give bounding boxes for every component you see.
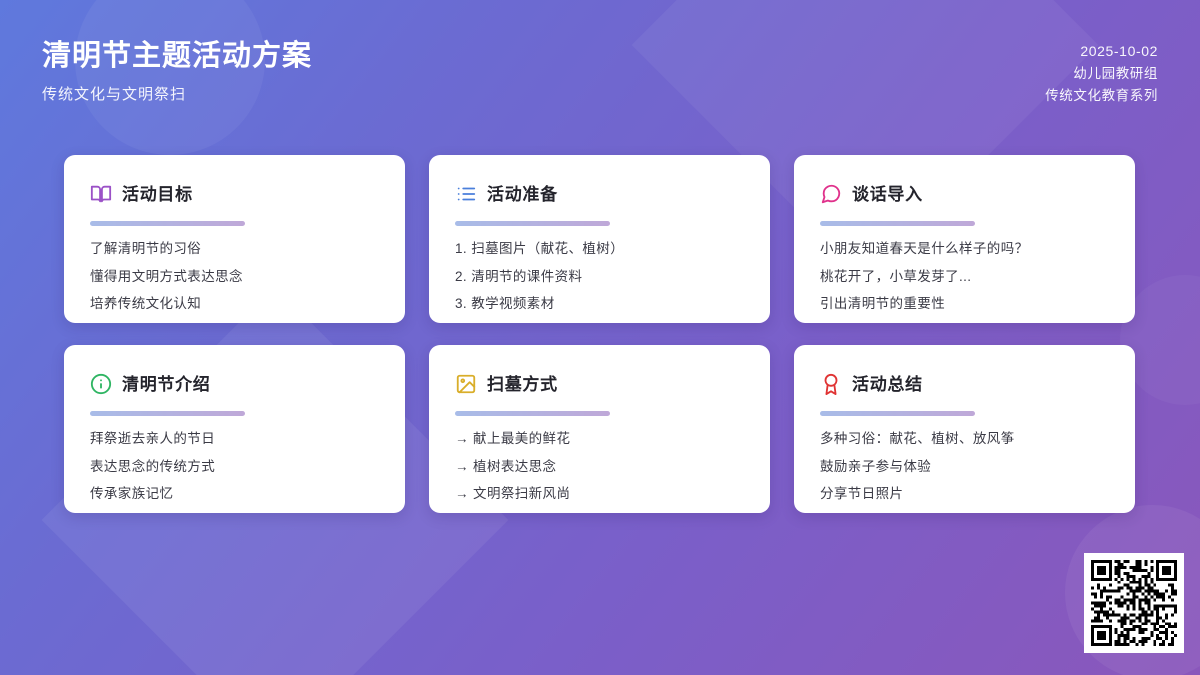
- card-body: 多种习俗：献花、植树、放风筝鼓励亲子参与体验分享节日照片: [820, 432, 1109, 501]
- card-title: 活动准备: [487, 186, 558, 203]
- card-divider: [455, 221, 610, 226]
- title-block: 清明节主题活动方案 传统文化与文明祭扫: [42, 38, 312, 104]
- card-conversation-intro[interactable]: 谈话导入小朋友知道春天是什么样子的吗？桃花开了，小草发芽了...引出清明节的重要…: [794, 155, 1135, 323]
- page-title: 清明节主题活动方案: [42, 38, 312, 74]
- card-line: → 献上最美的鲜花: [455, 432, 744, 446]
- card-title: 扫墓方式: [487, 376, 558, 393]
- info-circle-icon: [90, 373, 112, 395]
- open-book-icon: [90, 183, 112, 205]
- card-line: 懂得用文明方式表达思念: [90, 270, 379, 284]
- card-line: → 植树表达思念: [455, 460, 744, 474]
- card-line: 拜祭逝去亲人的节日: [90, 432, 379, 446]
- bullet-list-icon: [455, 183, 477, 205]
- card-body: → 献上最美的鲜花→ 植树表达思念→ 文明祭扫新风尚: [455, 432, 744, 501]
- card-tomb-sweeping-methods[interactable]: 扫墓方式→ 献上最美的鲜花→ 植树表达思念→ 文明祭扫新风尚: [429, 345, 770, 513]
- card-body: 拜祭逝去亲人的节日表达思念的传统方式传承家族记忆: [90, 432, 379, 501]
- card-header: 谈话导入: [820, 181, 1109, 207]
- header-meta: 2025-10-02 幼儿园教研组 传统文化教育系列: [1045, 40, 1158, 106]
- meta-series: 传统文化教育系列: [1045, 85, 1158, 107]
- card-title: 活动目标: [122, 186, 193, 203]
- card-title: 谈话导入: [852, 186, 923, 203]
- card-activity-preparation[interactable]: 活动准备1. 扫墓图片（献花、植树）2. 清明节的课件资料3. 教学视频素材: [429, 155, 770, 323]
- card-qingming-introduction[interactable]: 清明节介绍拜祭逝去亲人的节日表达思念的传统方式传承家族记忆: [64, 345, 405, 513]
- card-body: 小朋友知道春天是什么样子的吗？桃花开了，小草发芽了...引出清明节的重要性: [820, 242, 1109, 311]
- card-activity-summary[interactable]: 活动总结多种习俗：献花、植树、放风筝鼓励亲子参与体验分享节日照片: [794, 345, 1135, 513]
- card-header: 清明节介绍: [90, 371, 379, 397]
- card-grid: 活动目标了解清明节的习俗懂得用文明方式表达思念培养传统文化认知活动准备1. 扫墓…: [64, 155, 1137, 513]
- card-line: 鼓励亲子参与体验: [820, 460, 1109, 474]
- meta-date: 2025-10-02: [1045, 40, 1158, 63]
- card-line: 多种习俗：献花、植树、放风筝: [820, 432, 1109, 446]
- slide-canvas: 清明节主题活动方案 传统文化与文明祭扫 2025-10-02 幼儿园教研组 传统…: [0, 0, 1200, 675]
- card-body: 了解清明节的习俗懂得用文明方式表达思念培养传统文化认知: [90, 242, 379, 311]
- card-header: 扫墓方式: [455, 371, 744, 397]
- speech-bubble-icon: [820, 183, 842, 205]
- qr-code-image: [1091, 560, 1177, 646]
- card-line: 2. 清明节的课件资料: [455, 270, 744, 284]
- card-line: 分享节日照片: [820, 487, 1109, 501]
- card-line: 桃花开了，小草发芽了...: [820, 270, 1109, 284]
- card-line: 培养传统文化认知: [90, 297, 379, 311]
- card-line: 1. 扫墓图片（献花、植树）: [455, 242, 744, 256]
- card-line: 了解清明节的习俗: [90, 242, 379, 256]
- card-line: 3. 教学视频素材: [455, 297, 744, 311]
- card-activity-goals[interactable]: 活动目标了解清明节的习俗懂得用文明方式表达思念培养传统文化认知: [64, 155, 405, 323]
- image-picture-icon: [455, 373, 477, 395]
- card-divider: [90, 221, 245, 226]
- card-line: 表达思念的传统方式: [90, 460, 379, 474]
- card-divider: [820, 221, 975, 226]
- card-body: 1. 扫墓图片（献花、植树）2. 清明节的课件资料3. 教学视频素材: [455, 242, 744, 311]
- award-ribbon-icon: [820, 373, 842, 395]
- card-header: 活动目标: [90, 181, 379, 207]
- card-header: 活动准备: [455, 181, 744, 207]
- card-title: 活动总结: [852, 376, 923, 393]
- slide-header: 清明节主题活动方案 传统文化与文明祭扫 2025-10-02 幼儿园教研组 传统…: [0, 0, 1200, 140]
- card-header: 活动总结: [820, 371, 1109, 397]
- card-divider: [820, 411, 975, 416]
- card-line: → 文明祭扫新风尚: [455, 487, 744, 501]
- card-line: 传承家族记忆: [90, 487, 379, 501]
- card-line: 引出清明节的重要性: [820, 297, 1109, 311]
- qr-code[interactable]: [1084, 553, 1184, 653]
- card-divider: [455, 411, 610, 416]
- card-title: 清明节介绍: [122, 376, 211, 393]
- page-subtitle: 传统文化与文明祭扫: [42, 83, 312, 104]
- meta-organization: 幼儿园教研组: [1045, 63, 1158, 85]
- card-divider: [90, 411, 245, 416]
- card-line: 小朋友知道春天是什么样子的吗？: [820, 242, 1109, 256]
